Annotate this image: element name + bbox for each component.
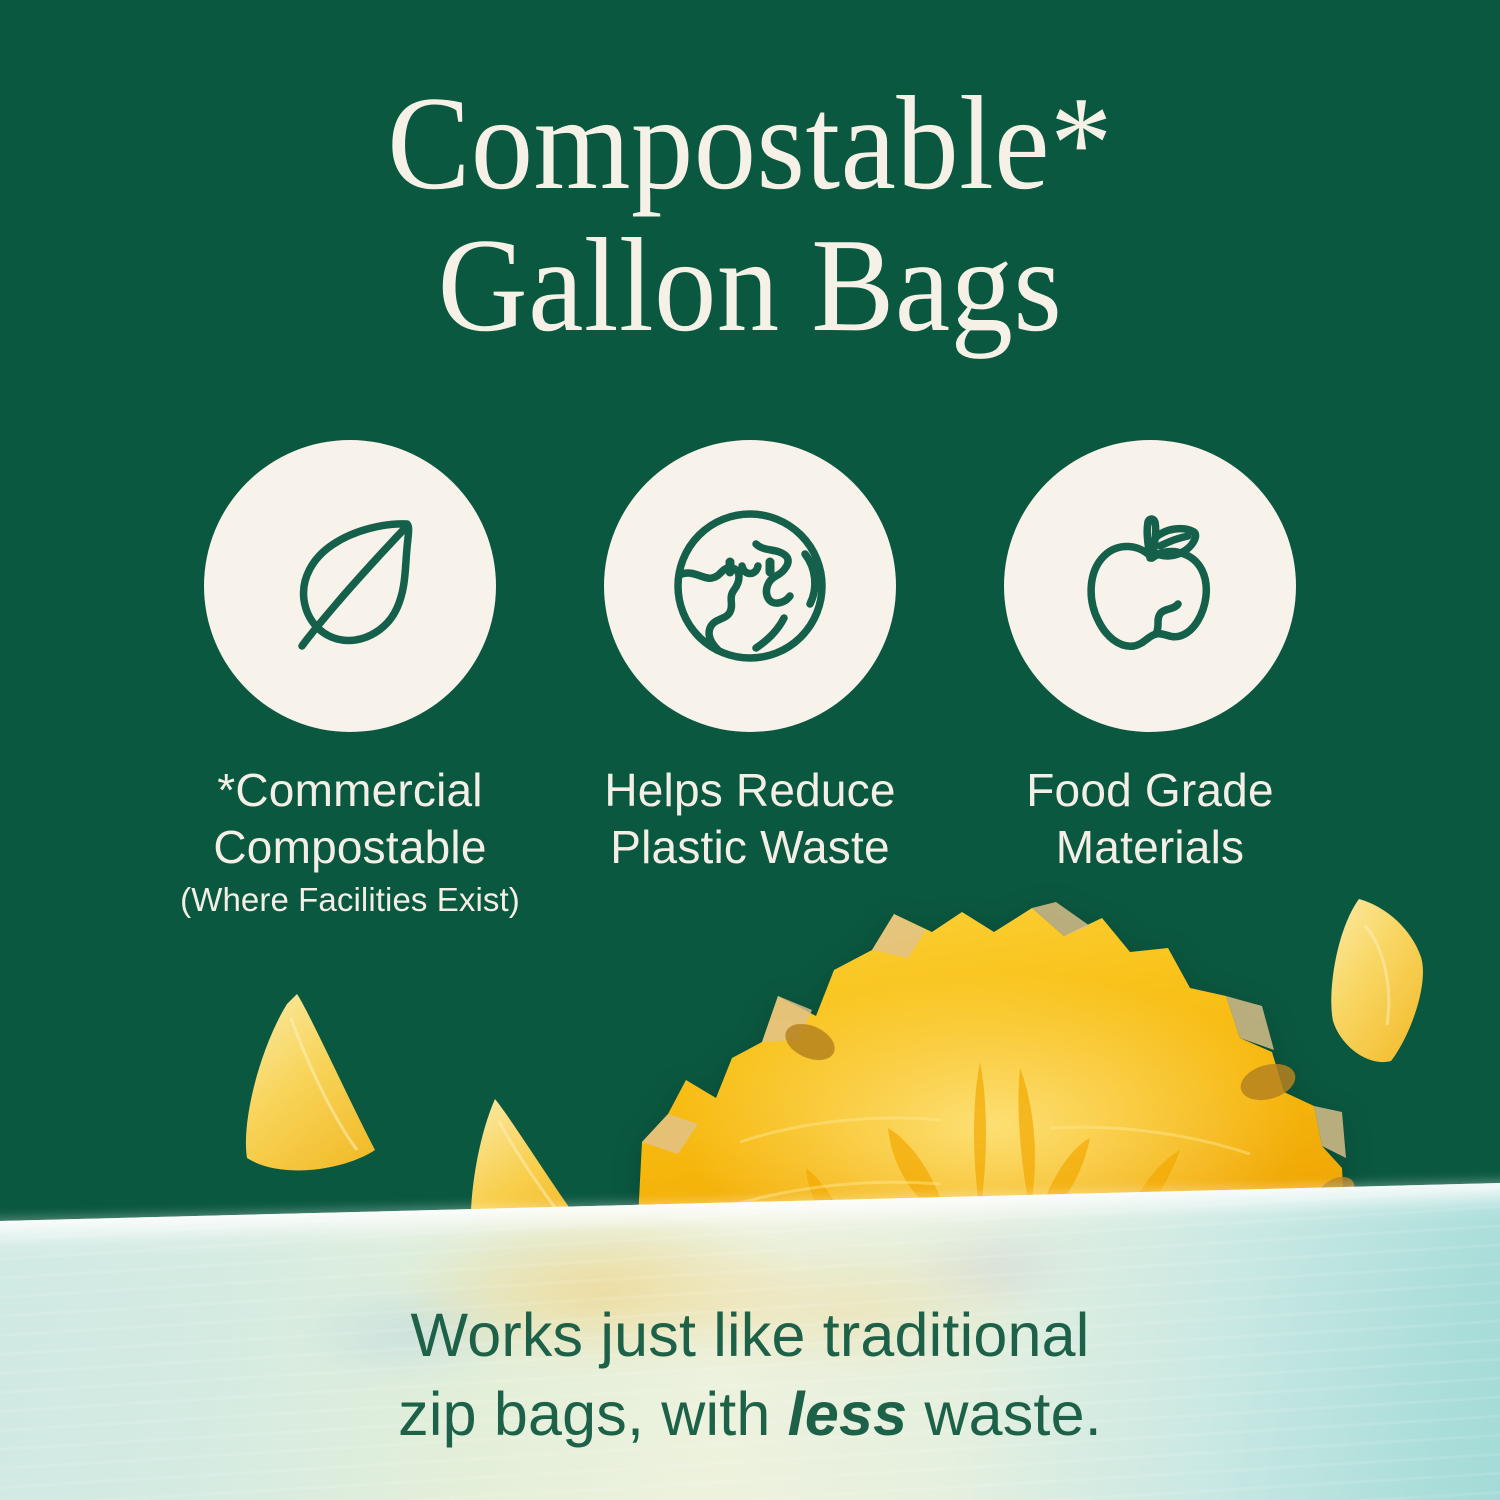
product-marketing-image: Compostable* Gallon Bags *Commercial Com… <box>0 0 1500 1500</box>
feature-badge-row: *Commercial Compostable (Where Facilitie… <box>150 440 1350 920</box>
leaf-icon <box>260 496 440 676</box>
feature-commercial-compostable: *Commercial Compostable (Where Facilitie… <box>150 440 550 920</box>
tagline-line-1: Works just like traditional <box>0 1296 1500 1375</box>
headline-line-1: Compostable* <box>53 72 1448 214</box>
feature-food-grade-materials: Food Grade Materials <box>950 440 1350 880</box>
globe-icon-circle <box>604 440 896 732</box>
pineapple-chunk-right <box>1325 895 1435 1070</box>
pineapple-chunk-left <box>225 990 400 1185</box>
tagline-emphasis: less <box>788 1380 908 1448</box>
tagline: Works just like traditional zip bags, wi… <box>0 1296 1500 1455</box>
leaf-icon-circle <box>204 440 496 732</box>
tagline-line-2-after: waste. <box>907 1380 1102 1448</box>
apple-icon-circle <box>1004 440 1296 732</box>
page-title: Compostable* Gallon Bags <box>53 72 1448 356</box>
tagline-line-2: zip bags, with less waste. <box>0 1375 1500 1454</box>
apple-bitten-icon <box>1060 496 1240 676</box>
globe-smiling-icon <box>660 496 840 676</box>
feature-label: *Commercial Compostable <box>213 762 486 876</box>
headline-line-2: Gallon Bags <box>53 214 1448 356</box>
feature-helps-reduce-plastic-waste: Helps Reduce Plastic Waste <box>550 440 950 880</box>
tagline-line-2-before: zip bags, with <box>398 1380 788 1448</box>
feature-label: Food Grade Materials <box>1026 762 1273 876</box>
feature-label: Helps Reduce Plastic Waste <box>604 762 895 876</box>
